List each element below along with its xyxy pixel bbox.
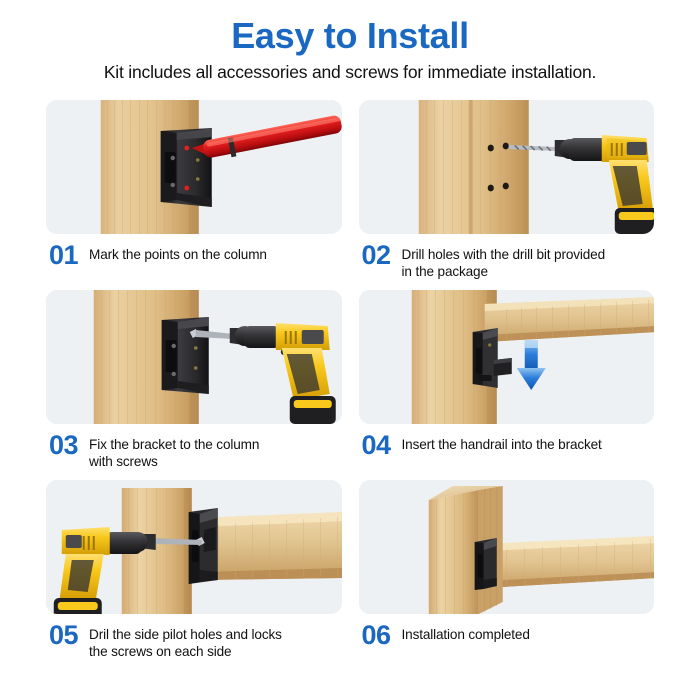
step-text-02: Drill holes with the drill bit provided … xyxy=(402,245,605,280)
step-number-05: 05 xyxy=(49,623,78,649)
step-text-01: Mark the points on the column xyxy=(89,245,267,263)
side-screws-scene xyxy=(46,480,342,614)
fix-bracket-scene xyxy=(46,290,342,424)
black-bracket xyxy=(189,508,218,584)
step-image-02 xyxy=(359,100,655,234)
steps-grid: 01 Mark the points on the column xyxy=(0,100,700,670)
black-bracket xyxy=(162,317,209,394)
handrail-beam xyxy=(199,512,342,580)
step-image-01 xyxy=(46,100,342,234)
step-caption-06: 06 Installation completed xyxy=(359,625,655,649)
step-number-04: 04 xyxy=(362,433,391,459)
step-number-06: 06 xyxy=(362,623,391,649)
insert-handrail-scene xyxy=(359,290,655,424)
step-caption-04: 04 Insert the handrail into the bracket xyxy=(359,435,655,459)
step-text-06: Installation completed xyxy=(402,625,530,643)
step-card-02: 02 Drill holes with the drill bit provid… xyxy=(359,100,655,290)
step-text-04: Insert the handrail into the bracket xyxy=(402,435,602,453)
step-caption-01: 01 Mark the points on the column xyxy=(46,245,342,269)
step-text-03: Fix the bracket to the column with screw… xyxy=(89,435,259,470)
step-number-01: 01 xyxy=(49,243,78,269)
page-subtitle: Kit includes all accessories and screws … xyxy=(0,63,700,82)
infographic-page: Easy to Install Kit includes all accesso… xyxy=(0,0,700,700)
step-number-02: 02 xyxy=(362,243,391,269)
step-image-06 xyxy=(359,480,655,614)
mark-points-scene xyxy=(46,100,342,234)
step-image-05 xyxy=(46,480,342,614)
step-card-06: 06 Installation completed xyxy=(359,480,655,670)
black-bracket xyxy=(474,538,496,590)
step-image-04 xyxy=(359,290,655,424)
step-text-05: Dril the side pilot holes and locks the … xyxy=(89,625,282,660)
page-title: Easy to Install xyxy=(0,17,700,55)
step-caption-05: 05 Dril the side pilot holes and locks t… xyxy=(46,625,342,660)
step-card-03: 03 Fix the bracket to the column with sc… xyxy=(46,290,342,480)
step-caption-02: 02 Drill holes with the drill bit provid… xyxy=(359,245,655,280)
completed-scene xyxy=(359,480,655,614)
black-bracket xyxy=(161,128,212,207)
step-image-03 xyxy=(46,290,342,424)
step-card-05: 05 Dril the side pilot holes and locks t… xyxy=(46,480,342,670)
step-caption-03: 03 Fix the bracket to the column with sc… xyxy=(46,435,342,470)
drill-holes-scene xyxy=(359,100,655,234)
wood-column xyxy=(418,100,528,234)
header: Easy to Install Kit includes all accesso… xyxy=(0,0,700,82)
step-number-03: 03 xyxy=(49,433,78,459)
step-card-01: 01 Mark the points on the column xyxy=(46,100,342,290)
step-card-04: 04 Insert the handrail into the bracket xyxy=(359,290,655,480)
